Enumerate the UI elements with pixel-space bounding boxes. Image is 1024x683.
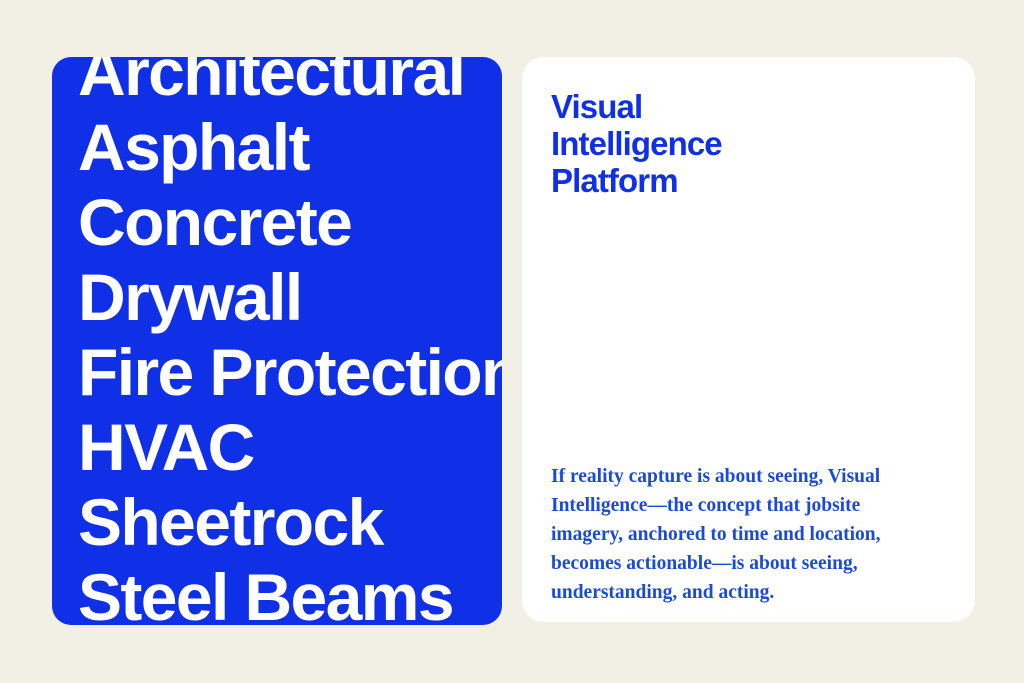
body-paragraph: If reality capture is about seeing, Visu… <box>551 462 936 607</box>
list-item: Sheetrock <box>78 485 502 560</box>
page-title-line: Intelligence <box>551 125 941 162</box>
page-title: Visual Intelligence Platform <box>551 88 941 199</box>
construction-terms-list: Architectural Asphalt Concrete Drywall F… <box>78 57 502 625</box>
construction-terms-card: Architectural Asphalt Concrete Drywall F… <box>52 57 502 625</box>
platform-copy-card: Visual Intelligence Platform If reality … <box>522 57 975 622</box>
list-item: Architectural <box>78 57 502 110</box>
list-item: Fire Protection <box>78 335 502 410</box>
slide-canvas: Architectural Asphalt Concrete Drywall F… <box>0 0 1024 683</box>
list-item: Drywall <box>78 260 502 335</box>
list-item: Steel Beams <box>78 560 502 625</box>
list-item: HVAC <box>78 410 502 485</box>
page-title-line: Visual <box>551 88 941 125</box>
list-item: Concrete <box>78 185 502 260</box>
list-item: Asphalt <box>78 110 502 185</box>
page-title-line: Platform <box>551 162 941 199</box>
